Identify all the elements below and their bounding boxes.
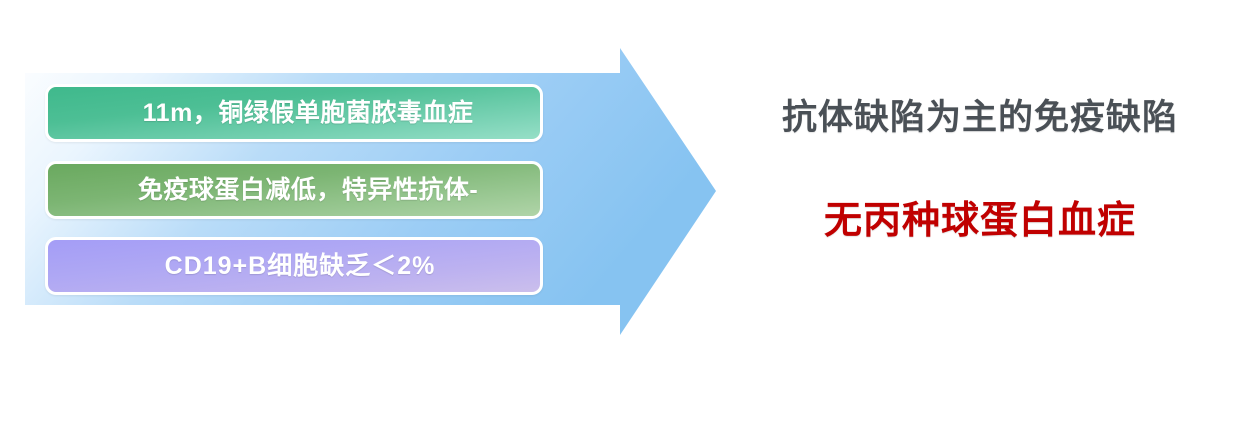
slide-canvas: 11m，铜绿假单胞菌脓毒血症 免疫球蛋白减低，特异性抗体- CD19+B细胞缺乏… — [0, 0, 1233, 437]
finding-pill-1: 11m，铜绿假单胞菌脓毒血症 — [45, 84, 543, 142]
conclusion-category-text: 抗体缺陷为主的免疫缺陷 — [745, 100, 1215, 135]
finding-pill-2: 免疫球蛋白减低，特异性抗体- — [45, 161, 543, 219]
finding-pill-2-label: 免疫球蛋白减低，特异性抗体- — [138, 178, 478, 203]
finding-pill-3-label: CD19+B细胞缺乏＜2% — [165, 254, 436, 279]
finding-pill-3: CD19+B细胞缺乏＜2% — [45, 237, 543, 295]
finding-pill-1-label: 11m，铜绿假单胞菌脓毒血症 — [143, 101, 474, 126]
conclusion-diagnosis-text: 无丙种球蛋白血症 — [745, 202, 1215, 240]
